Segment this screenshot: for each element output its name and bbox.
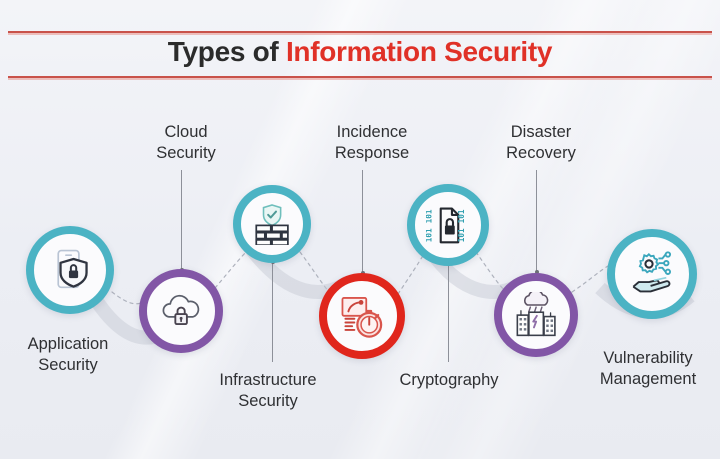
- link-2-3: [215, 250, 248, 288]
- node-application-security[interactable]: [26, 226, 114, 314]
- title-part-plain: Types of: [168, 36, 286, 67]
- infographic-canvas: Types of Information Security Applicati: [0, 0, 720, 459]
- connector-stem-cloud-security: [181, 170, 182, 270]
- link-3-4: [300, 252, 330, 293]
- building-storm-cloud-icon: [513, 292, 559, 338]
- link-4-5: [398, 254, 424, 294]
- svg-text:101: 101: [456, 228, 465, 242]
- page-title: Types of Information Security: [0, 36, 720, 68]
- svg-text:101: 101: [426, 209, 434, 223]
- svg-text:101: 101: [426, 228, 434, 242]
- phone-shield-lock-icon: [46, 246, 95, 295]
- node-cryptography[interactable]: 101 101 101 101: [407, 184, 489, 266]
- connector-stem-disaster-recovery: [536, 170, 537, 272]
- title-part-highlight: Information Security: [286, 36, 552, 67]
- connector-stem-cryptography: [448, 264, 449, 362]
- label-cloud-security: Cloud Security: [121, 122, 251, 165]
- cloud-lock-icon: [158, 288, 204, 334]
- title-rule-bottom: [8, 76, 712, 78]
- svg-text:101: 101: [456, 209, 465, 223]
- connector-stem-infrastructure-security: [272, 262, 273, 362]
- node-cloud-security[interactable]: [139, 269, 223, 353]
- label-cryptography: Cryptography: [369, 370, 529, 391]
- title-rule-top: [8, 31, 712, 33]
- label-vulnerability-management: Vulnerability Management: [568, 348, 720, 391]
- label-infrastructure-security: Infrastructure Security: [183, 370, 353, 413]
- link-5-6: [476, 252, 506, 292]
- firewall-shield-icon: [251, 203, 293, 245]
- document-lock-binary-icon: 101 101 101 101: [426, 203, 471, 248]
- connector-stem-incidence-response: [362, 170, 363, 273]
- node-disaster-recovery[interactable]: [494, 273, 578, 357]
- label-incidence-response: Incidence Response: [302, 122, 442, 165]
- hand-gear-network-icon: [627, 249, 677, 299]
- clipboard-stopwatch-icon: [338, 292, 386, 340]
- link-6-7: [572, 266, 608, 292]
- node-vulnerability-management[interactable]: [607, 229, 697, 319]
- node-incidence-response[interactable]: [319, 273, 405, 359]
- node-infrastructure-security[interactable]: [233, 185, 311, 263]
- label-application-security: Application Security: [0, 334, 138, 377]
- label-disaster-recovery: Disaster Recovery: [471, 122, 611, 165]
